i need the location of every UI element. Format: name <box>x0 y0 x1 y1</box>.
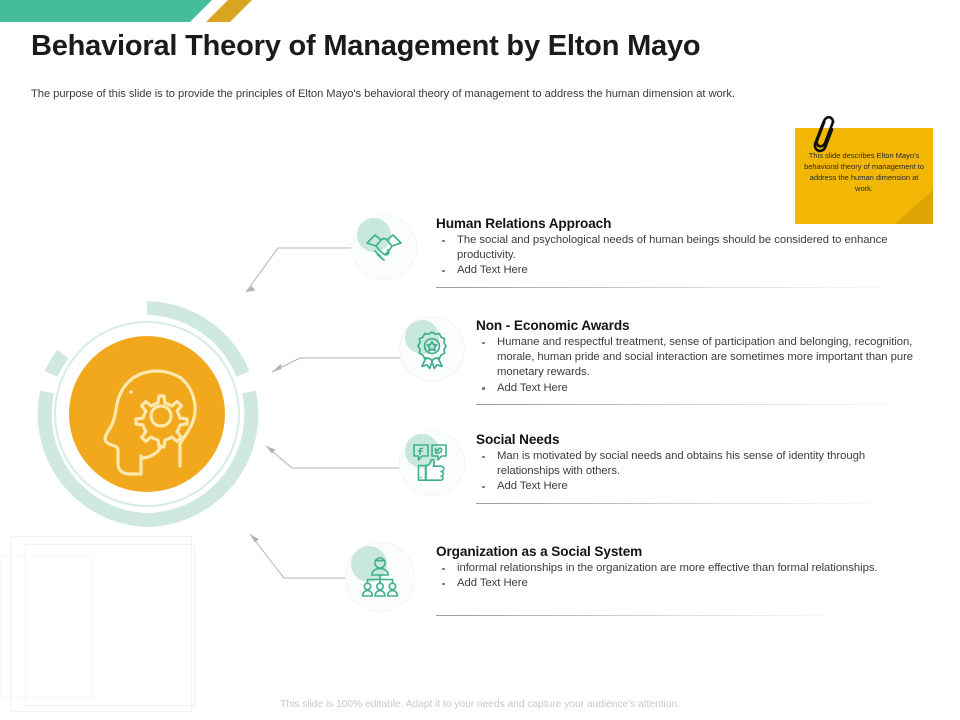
section-bullets: Man is motivated by social needs and obt… <box>476 449 926 495</box>
bullet-item: Man is motivated by social needs and obt… <box>476 449 926 479</box>
section-divider <box>476 503 896 504</box>
list-item[interactable]: Social Needs Man is motivated by social … <box>399 430 899 525</box>
bullet-item: The social and psychological needs of hu… <box>436 233 906 263</box>
handshake-icon <box>351 214 417 280</box>
paperclip-icon <box>803 116 843 174</box>
section-divider <box>436 615 851 616</box>
footer-note: This slide is 100% editable. Adapt it to… <box>0 699 960 710</box>
corner-gold-stripe <box>206 0 252 22</box>
section-divider <box>436 287 911 288</box>
organization-chart-icon <box>345 542 415 612</box>
bullet-item: Add Text Here <box>436 576 886 591</box>
bullet-item: informal relationships in the organizati… <box>436 561 886 576</box>
section-bullets: The social and psychological needs of hu… <box>436 233 906 279</box>
page-subtitle: The purpose of this slide is to provide … <box>31 88 735 100</box>
section-bullets: informal relationships in the organizati… <box>436 561 886 591</box>
sticky-note-fold <box>895 190 933 224</box>
section-divider <box>476 404 916 405</box>
section-heading: Organization as a Social System <box>436 544 886 559</box>
decorative-rectangle <box>0 556 92 698</box>
bullet-item: Add Text Here <box>476 381 926 396</box>
page-title: Behavioral Theory of Management by Elton… <box>31 30 700 63</box>
bullet-item: Humane and respectful treatment, sense o… <box>476 335 926 381</box>
award-ribbon-icon <box>399 316 465 382</box>
corner-teal-shape <box>0 0 212 22</box>
section-heading: Non - Economic Awards <box>476 318 926 333</box>
bullet-item: Add Text Here <box>476 479 926 494</box>
social-thumbs-up-icon <box>399 430 465 496</box>
sticky-note[interactable]: This slide describes Elton Mayo's behavi… <box>795 128 941 232</box>
central-hub <box>33 300 261 528</box>
list-item[interactable]: Organization as a Social System informal… <box>345 542 865 637</box>
slide-canvas: Behavioral Theory of Management by Elton… <box>0 0 960 720</box>
bullet-item: Add Text Here <box>436 263 906 278</box>
section-bullets: Humane and respectful treatment, sense o… <box>476 335 926 396</box>
list-item[interactable]: Non - Economic Awards Humane and respect… <box>399 316 919 421</box>
section-heading: Social Needs <box>476 432 926 447</box>
